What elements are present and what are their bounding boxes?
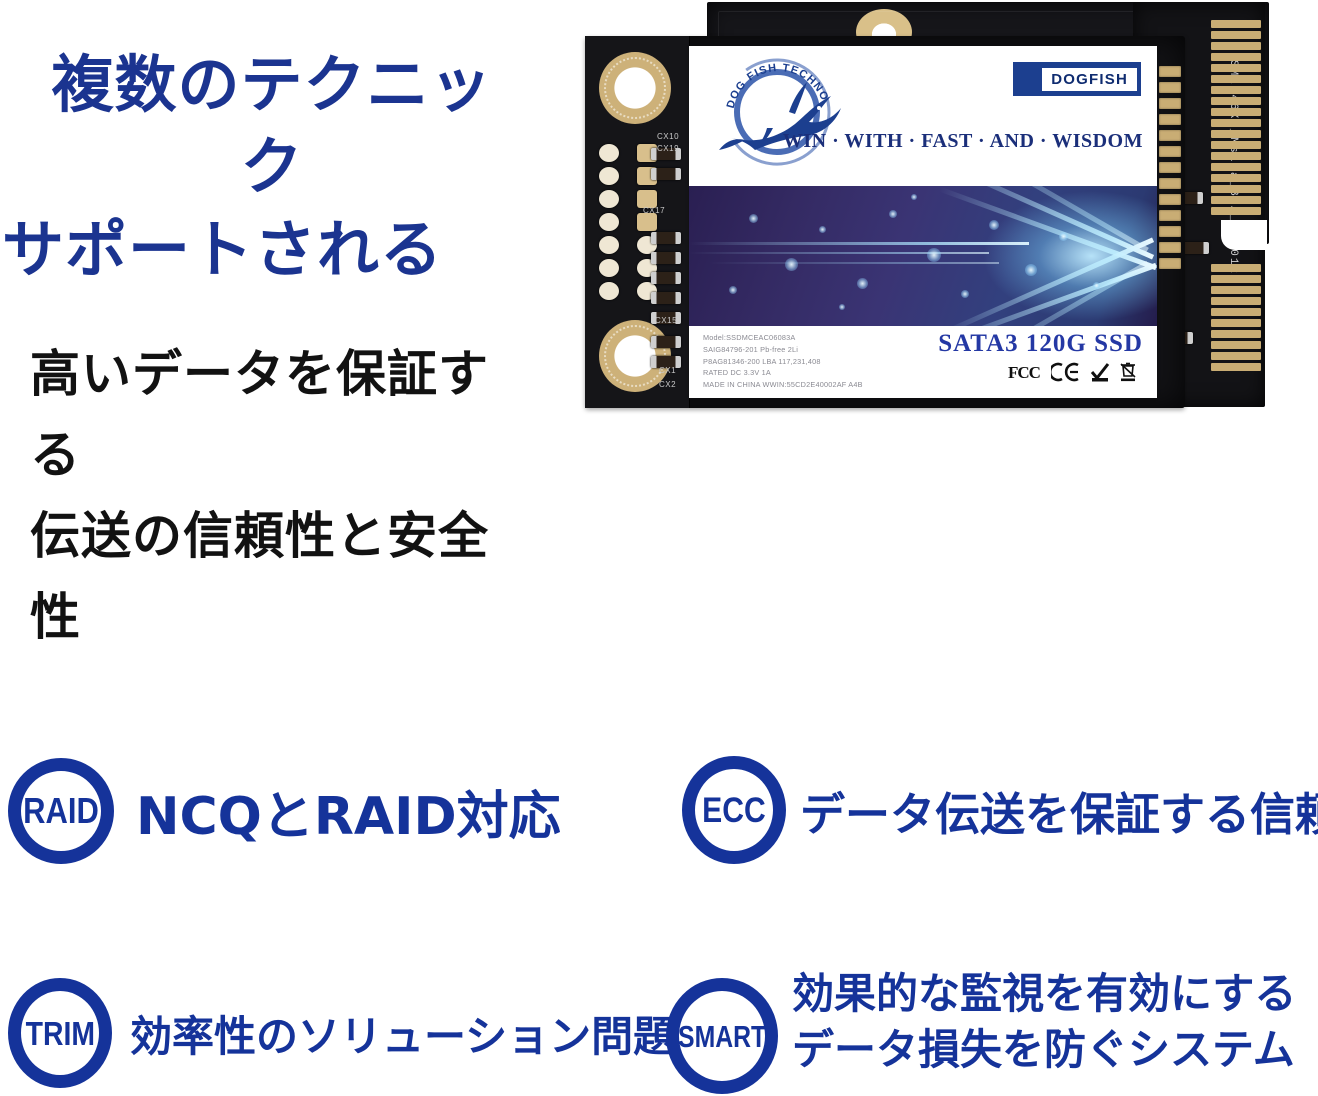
- gold-contact-finger: [1159, 82, 1181, 93]
- pcb-reference-designator: CX17: [643, 206, 665, 215]
- subheadline-line-2: 伝送の信頼性と安全性: [0, 496, 520, 658]
- gold-contact-finger: [1211, 31, 1261, 39]
- trim-badge-icon: TRIM: [8, 978, 112, 1088]
- gold-contact-finger: [1159, 98, 1181, 109]
- brand-box: DOGFISH: [1013, 62, 1141, 96]
- spec-line: Model:SSDMCEAC06083A: [703, 332, 863, 344]
- solder-pad: [599, 213, 619, 231]
- gold-contact-finger: [1159, 194, 1181, 205]
- pcb-reference-designator: CX1: [659, 366, 676, 375]
- fcc-icon: FCC: [1008, 362, 1042, 382]
- gold-contact-finger: [1211, 196, 1261, 204]
- gold-contact-finger: [1159, 130, 1181, 141]
- front-edge-connector: [1155, 36, 1185, 408]
- rohs-check-icon: [1090, 362, 1110, 382]
- smart-badge-icon: SMART: [666, 978, 778, 1094]
- gold-contact-finger: [1211, 152, 1261, 160]
- gold-contact-finger: [1211, 141, 1261, 149]
- smart-badge-label: SMART: [678, 1021, 766, 1052]
- ce-icon: [1051, 362, 1081, 382]
- ssd-product-label: DOG FISH TECHNOLOGY DOGFISH WIN · WITH ·…: [689, 46, 1157, 398]
- smd-component: [651, 336, 681, 348]
- gold-contact-finger: [1211, 286, 1261, 294]
- label-header: DOG FISH TECHNOLOGY DOGFISH WIN · WITH ·…: [689, 46, 1157, 186]
- gold-contact-finger: [1211, 330, 1261, 338]
- gold-contact-finger: [1159, 66, 1181, 77]
- gold-contact-finger: [1211, 108, 1261, 116]
- gold-contact-finger: [1211, 119, 1261, 127]
- gold-contact-finger: [1211, 185, 1261, 193]
- subheadline: 高いデータを保証する 伝送の信頼性と安全性: [0, 334, 520, 658]
- gold-contact-finger: [1211, 75, 1261, 83]
- feature-trim-text: 効率性のソリューション問題: [130, 1003, 675, 1064]
- gold-contact-finger: [1159, 146, 1181, 157]
- gold-contact-finger: [1211, 275, 1261, 283]
- gold-contact-finger: [1159, 258, 1181, 269]
- solder-pad: [599, 144, 619, 162]
- solder-pad: [599, 282, 619, 300]
- feature-raid: RAID NCQとRAID対応: [8, 758, 561, 864]
- solder-pad: [599, 190, 619, 208]
- gold-contact-finger: [1211, 264, 1261, 272]
- weee-bin-icon: [1119, 362, 1137, 382]
- feature-smart-line-2: データ損失を防ぐシステム: [792, 1022, 1296, 1078]
- gold-contact-finger: [1159, 178, 1181, 189]
- capacity-text: SATA3 120G SSD: [938, 330, 1143, 358]
- feature-smart-line-1: 効果的な監視を有効にする: [792, 966, 1296, 1022]
- gold-contact-finger: [1211, 64, 1261, 72]
- raid-badge-icon: RAID: [8, 758, 114, 864]
- feature-ecc: ECC データ伝送を保証する信頼性: [682, 756, 1318, 864]
- solder-pad: [637, 213, 657, 231]
- ecc-badge-icon: ECC: [682, 756, 786, 864]
- gold-contact-finger: [1211, 163, 1261, 171]
- gold-contact-finger: [1211, 174, 1261, 182]
- pcb-left-edge: CX10CX19CX15CX17CX1CX2: [585, 36, 690, 408]
- solder-pad: [599, 236, 619, 254]
- smd-component: [651, 292, 681, 304]
- gold-contact-finger: [1211, 341, 1261, 349]
- gold-contact-finger: [1159, 114, 1181, 125]
- ssd-product-photo: SM2246XT_Msata_BGA_4F_0128 CX10CX19CX15C…: [585, 0, 1300, 410]
- feature-raid-text: NCQとRAID対応: [136, 774, 561, 849]
- gold-contact-finger: [1159, 226, 1181, 237]
- smd-component: [651, 252, 681, 264]
- gold-contact-finger: [1159, 210, 1181, 221]
- trim-badge-label: TRIM: [25, 1017, 94, 1050]
- smd-component: [651, 168, 681, 180]
- gold-contact-finger: [1211, 319, 1261, 327]
- headline: 複数のテクニック サポートされる: [0, 44, 520, 291]
- pcb-reference-designator: CX10: [657, 132, 679, 141]
- gold-contact-finger: [1159, 242, 1181, 253]
- gold-contact-finger: [1211, 130, 1261, 138]
- gold-contact-finger: [1211, 207, 1261, 215]
- solder-pad: [599, 259, 619, 277]
- front-pcb-board: CX10CX19CX15CX17CX1CX2 DOG FISH TECHNOLO…: [585, 36, 1185, 408]
- smd-component: [651, 232, 681, 244]
- certification-marks: FCC: [1008, 362, 1137, 382]
- product-infographic: 複数のテクニック サポートされる 高いデータを保証する 伝送の信頼性と安全性 R…: [0, 0, 1318, 1096]
- label-footer: Model:SSDMCEAC06083A SAIG84796-201 Pb-fr…: [689, 326, 1157, 398]
- connector-key-notch: [1221, 220, 1267, 250]
- spec-line: SAIG84796-201 Pb-free 2Li: [703, 344, 863, 356]
- ecc-badge-label: ECC: [702, 793, 766, 828]
- smd-component: [651, 272, 681, 284]
- solder-pad: [599, 167, 619, 185]
- gold-contact-finger: [1159, 162, 1181, 173]
- gold-contact-finger: [1211, 352, 1261, 360]
- gold-contact-finger: [1211, 308, 1261, 316]
- svg-text:FCC: FCC: [1008, 363, 1040, 382]
- label-artwork: [689, 186, 1157, 326]
- feature-smart-text: 効果的な監視を有効にする データ損失を防ぐシステム: [792, 966, 1296, 1078]
- label-tagline: WIN · WITH · FAST · AND · WISDOM: [783, 130, 1143, 153]
- pcb-reference-designator: CX15: [655, 316, 677, 325]
- feature-ecc-text: データ伝送を保証する信頼性: [800, 778, 1318, 843]
- pcb-reference-designator: CX2: [659, 380, 676, 389]
- label-spec-lines: Model:SSDMCEAC06083A SAIG84796-201 Pb-fr…: [703, 332, 863, 391]
- mounting-hole-icon: [599, 52, 671, 124]
- pcb-reference-designator: CX19: [657, 144, 679, 153]
- gold-contact-finger: [1211, 97, 1261, 105]
- gold-contact-finger: [1211, 20, 1261, 28]
- gold-contact-finger: [1211, 363, 1261, 371]
- gold-contact-finger: [1211, 42, 1261, 50]
- gold-contact-finger: [1211, 53, 1261, 61]
- spec-line: P8AG81346-200 LBA 117,231,408: [703, 356, 863, 368]
- gold-contact-finger: [1211, 86, 1261, 94]
- feature-trim: TRIM 効率性のソリューション問題: [8, 978, 675, 1088]
- spec-line: RATED DC 3.3V 1A: [703, 367, 863, 379]
- subheadline-line-1: 高いデータを保証する: [0, 334, 520, 496]
- spec-line: MADE IN CHINA WWIN:55CD2E40002AF A4B: [703, 379, 863, 391]
- raid-badge-label: RAID: [23, 793, 99, 829]
- brand-name: DOGFISH: [1041, 67, 1138, 92]
- gold-contact-finger: [1211, 297, 1261, 305]
- headline-line-2: サポートされる: [0, 209, 520, 291]
- feature-smart: SMART 効果的な監視を有効にする データ損失を防ぐシステム: [666, 950, 1296, 1094]
- headline-line-1: 複数のテクニック: [0, 44, 520, 209]
